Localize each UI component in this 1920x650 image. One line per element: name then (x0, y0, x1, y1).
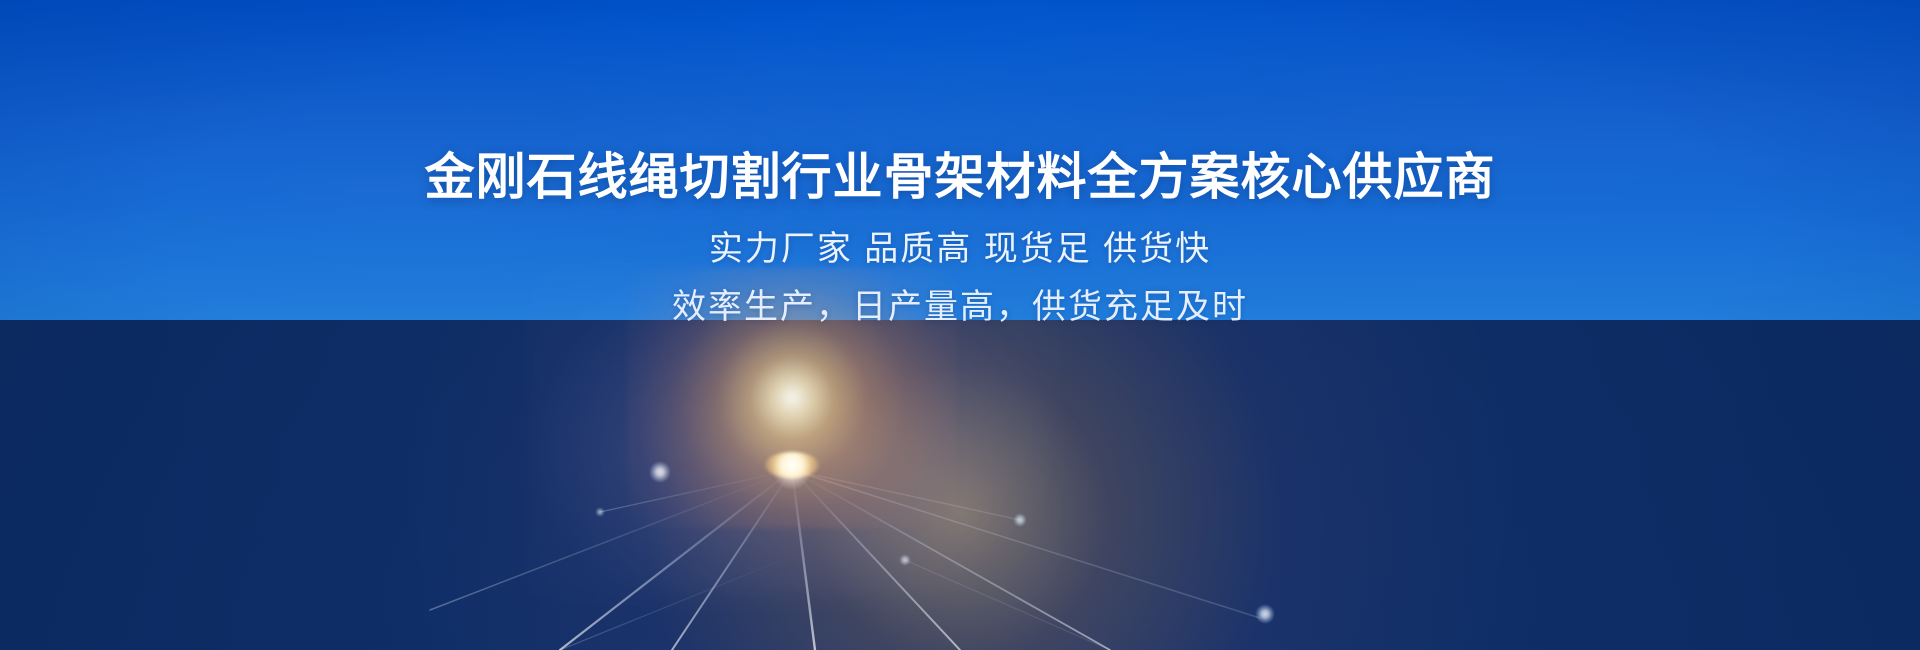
banner-headline: 金刚石线绳切割行业骨架材料全方案核心供应商 (0, 0, 1920, 207)
banner-subtitle-line-2: 效率生产，日产量高，供货充足及时 (0, 271, 1920, 329)
earth-globe-shape (0, 320, 1920, 650)
hero-banner: 金刚石线绳切割行业骨架材料全方案核心供应商 实力厂家 品质高 现货足 供货快 效… (0, 0, 1920, 650)
globe-horizon-group (0, 320, 1920, 650)
banner-subtitle-line-1: 实力厂家 品质高 现货足 供货快 (0, 207, 1920, 271)
banner-text-block: 金刚石线绳切割行业骨架材料全方案核心供应商 实力厂家 品质高 现货足 供货快 效… (0, 0, 1920, 329)
